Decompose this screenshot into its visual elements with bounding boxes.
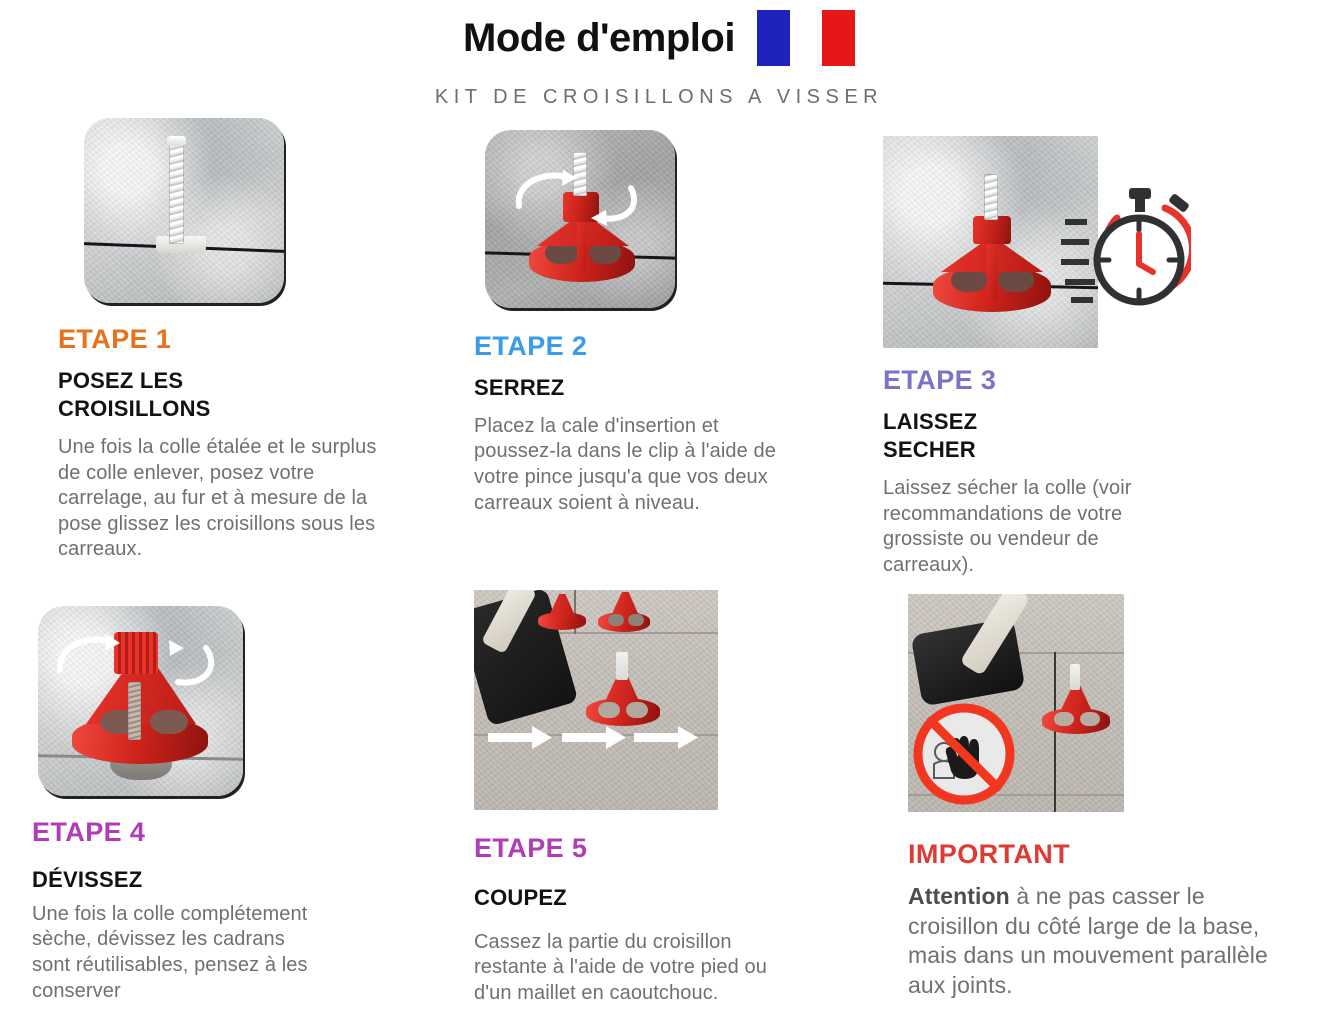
- step-4-body: Une fois la colle complétement sèche, dé…: [32, 902, 322, 1004]
- croisillon-rouge-1: [532, 592, 592, 636]
- step-3-title: LAISSEZ SECHER: [883, 408, 1043, 464]
- white-threaded-screw: [984, 174, 998, 220]
- stopwatch-icon: [1061, 172, 1191, 332]
- step-3-body: Laissez sécher la colle (voir recommanda…: [883, 476, 1133, 578]
- step-2-title: SERREZ: [474, 374, 819, 402]
- clip-cap-knurled: [114, 632, 158, 674]
- step-4-photo: [38, 606, 243, 796]
- step-card-1: ETAPE 1 POSEZ LES CROISILLONS Une fois l…: [58, 118, 388, 563]
- step-1-label: ETAPE 1: [58, 325, 388, 355]
- step-card-4: ETAPE 4 DÉVISSEZ Une fois la colle compl…: [32, 606, 362, 1004]
- important-photo: [908, 594, 1124, 812]
- step-card-5: ETAPE 5 COUPEZ Cassez la partie du crois…: [474, 590, 819, 1007]
- photo-texture: [84, 118, 284, 303]
- step-3-text: ETAPE 3 LAISSEZ SECHER Laissez sécher la…: [883, 366, 1263, 578]
- clip-hole-right: [150, 710, 188, 734]
- step-5-text: ETAPE 5 COUPEZ Cassez la partie du crois…: [474, 834, 819, 1007]
- step-2-text: ETAPE 2 SERREZ Placez la cale d'insertio…: [474, 332, 819, 516]
- clip-cap: [973, 216, 1011, 244]
- instruction-sheet: Mode d'emploi KIT DE CROISILLONS A VISSE…: [0, 0, 1318, 1022]
- motion-lines-icon: [1061, 222, 1095, 300]
- croisillon-rouge-3: [582, 668, 666, 734]
- clip-hole-left: [608, 614, 624, 626]
- step-2-body: Placez la cale d'insertion et poussez-la…: [474, 414, 804, 516]
- step-5-label: ETAPE 5: [474, 834, 819, 864]
- step-2-label: ETAPE 2: [474, 332, 819, 362]
- page-title: Mode d'emploi: [463, 16, 735, 60]
- clip-center-post: [987, 238, 997, 300]
- important-body-strong: Attention: [908, 883, 1010, 909]
- step-4-title: DÉVISSEZ: [32, 866, 362, 894]
- step-1-text: ETAPE 1 POSEZ LES CROISILLONS Une fois l…: [58, 325, 388, 563]
- important-label: IMPORTANT: [908, 840, 1280, 870]
- step-card-2: ETAPE 2 SERREZ Placez la cale d'insertio…: [474, 130, 819, 516]
- step-5-title: COUPEZ: [474, 884, 819, 912]
- croisillon-rouge: [1040, 682, 1116, 744]
- step-5-body: Cassez la partie du croisillon restante …: [474, 930, 809, 1007]
- step-4-label: ETAPE 4: [32, 818, 362, 848]
- clip-hole-left: [1054, 712, 1074, 726]
- screw-head: [167, 136, 186, 146]
- step-1-title: POSEZ LES CROISILLONS: [58, 367, 273, 423]
- step-4-text: ETAPE 4 DÉVISSEZ Une fois la colle compl…: [32, 818, 362, 1004]
- important-text: IMPORTANT Attention à ne pas casser le c…: [908, 840, 1280, 1001]
- step-3-label: ETAPE 3: [883, 366, 1263, 396]
- flag-band-blue: [757, 10, 790, 66]
- step-3-photo-wrap: [883, 136, 1183, 348]
- step-5-photo: [474, 590, 718, 810]
- french-flag-icon: [757, 10, 855, 66]
- no-entry-hand-icon: [912, 702, 1016, 806]
- clip-hole-right: [626, 702, 648, 718]
- tile-joint-h2: [474, 734, 718, 736]
- clip-hole-left: [598, 702, 620, 718]
- clip-hole-right: [1080, 712, 1100, 726]
- step-1-photo: [84, 118, 284, 303]
- clip-hole-right: [628, 614, 644, 626]
- threaded-screw: [128, 682, 141, 740]
- flag-band-white: [790, 10, 823, 66]
- clip-legs: [548, 594, 576, 618]
- important-card: IMPORTANT Attention à ne pas casser le c…: [908, 594, 1280, 1001]
- title-row: Mode d'emploi: [0, 0, 1318, 66]
- page-header: Mode d'emploi KIT DE CROISILLONS A VISSE…: [0, 0, 1318, 109]
- croisillon-rouge-2: [594, 590, 656, 638]
- step-card-3: ETAPE 3 LAISSEZ SECHER Laissez sécher la…: [883, 136, 1263, 578]
- important-body: Attention à ne pas casser le croisillon …: [908, 882, 1268, 1002]
- clip-cap: [563, 192, 599, 222]
- page-subtitle: KIT DE CROISILLONS A VISSER: [0, 86, 1318, 109]
- step-2-photo: [485, 130, 675, 308]
- white-threaded-screw: [573, 152, 587, 196]
- white-spacer: [616, 652, 628, 680]
- step-1-body: Une fois la colle étalée et le surplus d…: [58, 435, 378, 563]
- white-spacer: [1070, 664, 1080, 690]
- white-threaded-screw: [169, 140, 184, 244]
- flag-band-red: [822, 10, 855, 66]
- clip-center-post: [577, 214, 586, 270]
